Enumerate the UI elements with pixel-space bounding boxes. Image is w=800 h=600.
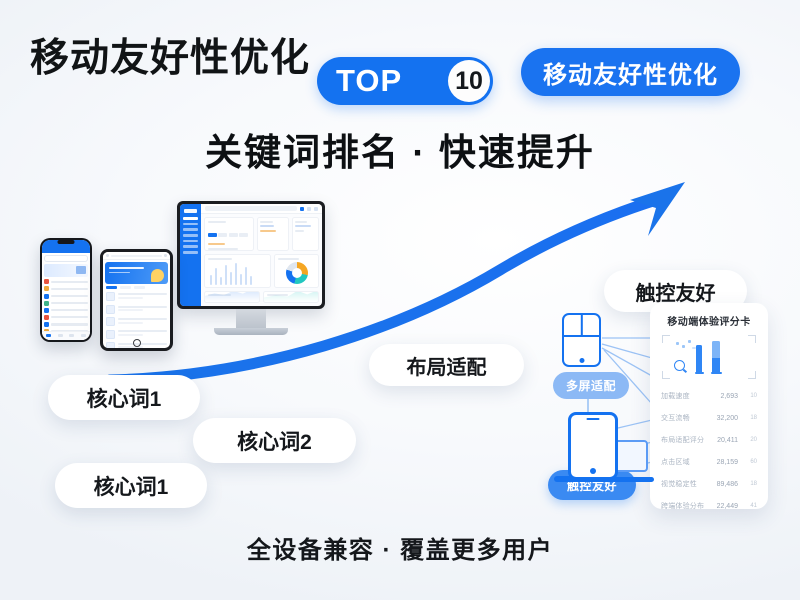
dashboard-search-bar — [205, 206, 297, 211]
dashboard-sidebar — [180, 204, 201, 306]
phone-tab — [46, 334, 51, 338]
score-row-name: 视觉稳定性 — [661, 479, 717, 489]
tablet-toolbar-icon — [164, 254, 167, 257]
dashboard-body — [201, 214, 322, 306]
score-card-chart — [662, 335, 756, 379]
header-tag-label: 移动友好性优化 — [543, 55, 718, 90]
top-badge-number: 10 — [455, 67, 483, 96]
tablet-chip — [106, 286, 117, 289]
phone-list-icon — [44, 294, 49, 299]
score-card-row: 点击区域28,15960 — [650, 451, 768, 473]
phone-list-icon — [44, 286, 49, 291]
dashboard-toolbar-icon — [314, 207, 318, 211]
score-row-value: 22,449 — [717, 503, 738, 510]
mini-bar-chart — [662, 336, 756, 374]
keyword-pill-2[interactable]: 核心词2 — [193, 418, 356, 463]
score-row-delta: 20 — [745, 437, 757, 443]
top-10-badge: TOP 10 — [317, 57, 493, 105]
score-row-name: 交互流畅 — [661, 413, 717, 423]
tablet-promo-banner — [105, 262, 168, 284]
small-phone-icon — [562, 313, 601, 367]
dashboard-ui — [180, 204, 322, 306]
feature-pill-layout[interactable]: 布局适配 — [369, 344, 524, 386]
dashboard-nav-item — [183, 228, 198, 231]
donut-chart-icon — [286, 262, 308, 284]
chart-bar-base — [695, 372, 704, 375]
tablet-home-button — [133, 339, 141, 347]
score-row-value: 28,159 — [717, 459, 738, 466]
phone-promo-banner — [44, 264, 87, 277]
score-row-delta: 18 — [745, 415, 757, 421]
large-phone-icon — [568, 412, 618, 480]
tablet-list-icon — [106, 342, 115, 348]
dashboard-toolbar-icon — [300, 207, 304, 211]
phone-list-icon — [44, 322, 49, 327]
poster-canvas: 移动友好性优化 TOP 10 移动友好性优化 关键词排名 · 快速提升 — [0, 0, 800, 600]
dashboard-area-chart — [263, 291, 319, 304]
phone-list-icon — [44, 301, 49, 306]
dashboard-area-chart — [204, 291, 260, 304]
dashboard-stat-card — [292, 217, 319, 251]
chart-decor-dot — [676, 342, 679, 345]
keyword-pill-3[interactable]: 核心词1 — [55, 463, 207, 508]
desktop-screen — [177, 201, 325, 309]
score-row-delta: 18 — [745, 481, 757, 487]
dashboard-filter-card — [204, 217, 254, 251]
keyword-pill-3-label: 核心词1 — [94, 471, 169, 501]
phone-notch — [58, 240, 75, 244]
score-row-name: 跨端体验分布 — [661, 501, 717, 509]
dashboard-row-charts — [204, 254, 319, 288]
tablet-chip — [120, 286, 131, 289]
dashboard-stat-card — [257, 217, 289, 251]
phone-tab-bar — [42, 331, 89, 340]
tablet-screen — [103, 252, 170, 348]
chart-bar-base — [711, 372, 722, 375]
feature-pill-layout-label: 布局适配 — [407, 351, 487, 380]
dashboard-nav-item — [183, 245, 198, 248]
phone-tab — [58, 334, 63, 338]
score-row-name: 点击区域 — [661, 457, 717, 467]
tablet-list-icon — [106, 292, 115, 301]
desktop-mockup — [177, 201, 325, 335]
dashboard-row-top — [204, 217, 319, 251]
dashboard-row-areas — [204, 291, 319, 304]
chart-decor-dot — [688, 340, 691, 343]
phone-tab — [69, 334, 74, 338]
dashboard-nav-item — [183, 251, 198, 254]
multi-screen-pill[interactable]: 多屏适配 — [553, 372, 629, 399]
tablet-list-icon — [106, 317, 115, 326]
phone-list-icon — [44, 308, 49, 313]
tablet-list-icon — [106, 330, 115, 339]
score-card-rows: 加载速度2,69310交互流畅32,20018布局适配评分20,41120点击区… — [650, 385, 768, 509]
keyword-pill-2-label: 核心词2 — [237, 426, 312, 456]
phone-search-field — [44, 255, 87, 262]
score-card-row: 视觉稳定性89,48618 — [650, 473, 768, 495]
dashboard-main — [201, 204, 322, 306]
dashboard-toolbar-icon — [307, 207, 311, 211]
tablet-list-icon — [106, 305, 115, 314]
score-row-value: 89,486 — [717, 481, 738, 488]
phone-list-icon — [44, 315, 49, 320]
dashboard-nav-item — [183, 234, 198, 237]
phone-split-line-vertical — [580, 315, 582, 335]
desktop-stand-neck — [236, 309, 266, 328]
tablet-filter-chips — [106, 286, 167, 289]
page-title: 移动友好性优化 — [30, 27, 310, 83]
mobile-experience-illustration: 多屏适配 触控友好 移动端体验评分卡 — [540, 300, 780, 515]
score-row-delta: 60 — [745, 459, 757, 465]
tablet-chip — [134, 286, 145, 289]
magnifier-icon — [674, 360, 685, 371]
dashboard-donut-chart — [274, 254, 319, 288]
dashboard-nav-item — [183, 217, 198, 220]
top-badge-number-circle: 10 — [448, 60, 490, 102]
tablet-mockup — [100, 249, 173, 351]
desktop-stand-base — [214, 328, 288, 335]
score-card: 移动端体验评分卡 加载速度2 — [650, 303, 768, 509]
score-card-title: 移动端体验评分卡 — [650, 313, 768, 328]
score-card-row: 布局适配评分20,41120 — [650, 429, 768, 451]
score-row-value: 20,411 — [717, 437, 738, 444]
phone-mockup — [40, 238, 92, 342]
score-row-value: 32,200 — [717, 415, 738, 422]
device-mockup-cluster — [22, 190, 332, 365]
phone-tab — [81, 334, 86, 338]
score-card-row: 加载速度2,69310 — [650, 385, 768, 407]
score-row-value: 2,693 — [720, 393, 738, 400]
score-card-row: 交互流畅32,20018 — [650, 407, 768, 429]
keyword-pill-1[interactable]: 核心词1 — [48, 375, 200, 420]
phone-list-icon — [44, 279, 49, 284]
tablet-toolbar — [103, 252, 170, 260]
dashboard-bar-chart — [204, 254, 271, 288]
top-badge-label: TOP — [336, 63, 402, 99]
score-row-name: 布局适配评分 — [661, 435, 717, 445]
dashboard-nav-item — [183, 240, 198, 243]
score-row-name: 加载速度 — [661, 391, 720, 401]
header-tag-pill: 移动友好性优化 — [521, 48, 740, 96]
dashboard-nav-item — [183, 223, 198, 226]
phone-screen — [42, 240, 89, 339]
score-card-row: 跨端体验分布22,44941 — [650, 495, 768, 509]
dashboard-toolbar — [201, 204, 322, 214]
footer-tagline: 全设备兼容 · 覆盖更多用户 — [0, 530, 800, 565]
multi-screen-pill-label: 多屏适配 — [566, 377, 616, 394]
chart-decor-dot — [682, 345, 685, 348]
chart-bar — [696, 345, 702, 374]
phone-split-line-horizontal — [564, 335, 599, 337]
tablet-banner-decor — [151, 269, 164, 282]
keyword-pill-1-label: 核心词1 — [87, 383, 162, 413]
dashboard-logo-icon — [184, 209, 197, 213]
score-row-delta: 41 — [745, 503, 757, 509]
score-row-delta: 10 — [745, 393, 757, 399]
tablet-toolbar-icon — [106, 254, 109, 257]
page-subtitle: 关键词排名 · 快速提升 — [0, 122, 800, 176]
